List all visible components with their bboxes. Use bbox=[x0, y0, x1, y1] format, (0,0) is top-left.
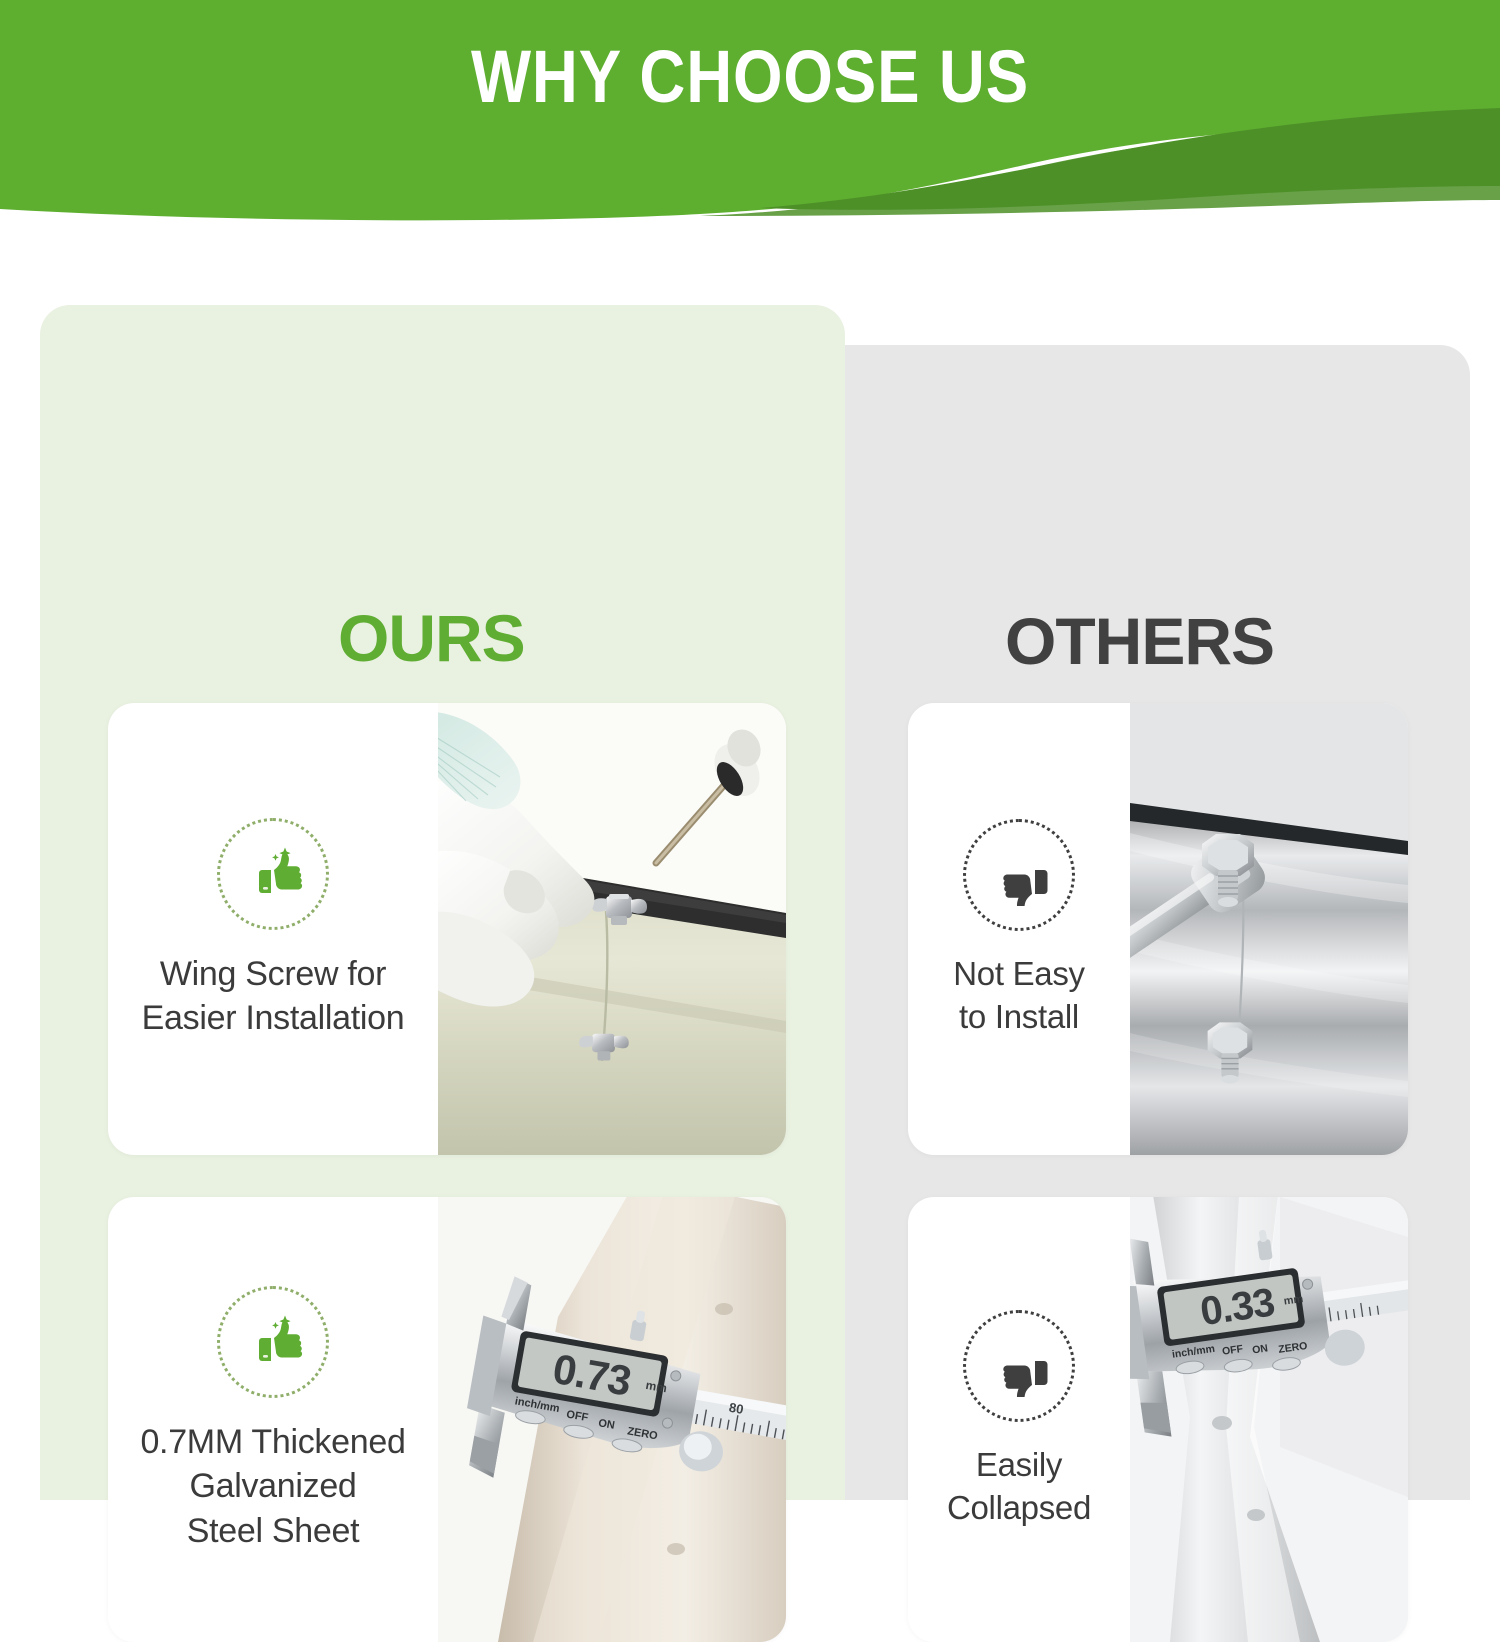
thumbs-down-glyph bbox=[988, 1335, 1050, 1397]
comparison-section: OURS OTHERS Wing Screw for Easier Instal… bbox=[0, 225, 1500, 1500]
photo-illustration: 0.33 mm inch/mm OFF ON ZERO bbox=[1130, 1197, 1408, 1642]
card-text-block: 0.7MM Thickened Galvanized Steel Sheet bbox=[108, 1197, 438, 1642]
ours-card-thickness: 0.7MM Thickened Galvanized Steel Sheet bbox=[108, 1197, 786, 1642]
caliper-button-label-on: ON bbox=[1251, 1342, 1268, 1356]
card-label-line2: Collapsed bbox=[947, 1489, 1091, 1526]
card-label-line2: to Install bbox=[959, 998, 1079, 1035]
card-label-line1: 0.7MM Thickened bbox=[140, 1423, 405, 1461]
card-label: 0.7MM Thickened Galvanized Steel Sheet bbox=[140, 1420, 405, 1553]
others-heading: OTHERS bbox=[1005, 608, 1274, 674]
card-label-line2: Easier Installation bbox=[142, 999, 405, 1037]
others-photo-caliper: 0.33 mm inch/mm OFF ON ZERO bbox=[1130, 1197, 1408, 1642]
page-header: WHY CHOOSE US bbox=[0, 0, 1500, 225]
card-label-line1: Not Easy bbox=[953, 955, 1085, 992]
photo-illustration: 70 80 0.73 mm inch/mm OFF ON ZERO bbox=[438, 1197, 786, 1642]
thumbs-down-icon bbox=[963, 1310, 1075, 1422]
page-title: WHY CHOOSE US bbox=[105, 40, 1395, 114]
thumbs-up-sparkle-icon bbox=[217, 1286, 329, 1398]
thumbs-up-glyph bbox=[239, 840, 307, 908]
photo-illustration bbox=[1130, 703, 1408, 1155]
card-label: Wing Screw for Easier Installation bbox=[142, 952, 405, 1040]
others-card-not-easy-install: Not Easy to Install bbox=[908, 703, 1408, 1155]
card-label: Not Easy to Install bbox=[953, 953, 1085, 1039]
ours-heading: OURS bbox=[338, 605, 525, 671]
card-text-block: Easily Collapsed bbox=[908, 1197, 1130, 1642]
thumbs-up-glyph bbox=[239, 1308, 307, 1376]
card-label-line3: Steel Sheet bbox=[187, 1512, 360, 1550]
card-label-line1: Wing Screw for bbox=[160, 955, 386, 993]
ours-photo-caliper: 70 80 0.73 mm inch/mm OFF ON ZERO bbox=[438, 1197, 786, 1642]
photo-illustration bbox=[438, 703, 786, 1155]
card-label: Easily Collapsed bbox=[947, 1444, 1091, 1530]
thumbs-up-sparkle-icon bbox=[217, 818, 329, 930]
ours-card-wing-screw: Wing Screw for Easier Installation bbox=[108, 703, 786, 1155]
ours-photo-wing-screw bbox=[438, 703, 786, 1155]
thumbs-down-icon bbox=[963, 819, 1075, 931]
others-card-easily-collapsed: Easily Collapsed bbox=[908, 1197, 1408, 1642]
card-label-line1: Easily bbox=[976, 1446, 1062, 1483]
card-text-block: Not Easy to Install bbox=[908, 703, 1130, 1155]
svg-text:80: 80 bbox=[728, 1400, 745, 1417]
card-text-block: Wing Screw for Easier Installation bbox=[108, 703, 438, 1155]
thumbs-down-glyph bbox=[988, 844, 1050, 906]
others-photo-wrench bbox=[1130, 703, 1408, 1155]
